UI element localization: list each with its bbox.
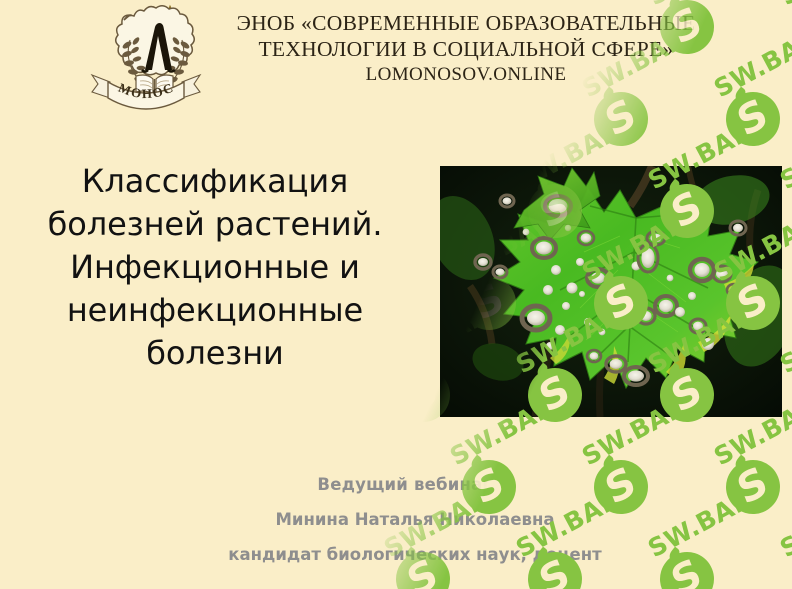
leaf-spot [562,302,570,310]
slide-header: ЛОМОНОСОВ ЭНОБ «СОВРЕМЕННЫЕ ОБРАЗОВАТЕЛЬ… [0,0,792,118]
title-line-2: болезней растений. [10,203,420,246]
presenter-info: Ведущий вебинара: Минина Наталья Николае… [150,468,680,573]
watermark-text: SW.BAND [0,566,51,589]
header-title-block: ЭНОБ «СОВРЕМЕННЫЕ ОБРАЗОВАТЕЛЬНЫЕ ТЕХНОЛ… [196,10,736,87]
header-line-2: ТЕХНОЛОГИИ В СОЦИАЛЬНОЙ СФЕРЕ» [196,36,736,62]
title-line-1: Классификация [10,160,420,203]
leaf-spot [702,338,714,350]
watermark-text: SW.BAND [775,474,792,563]
leaf-spot [579,291,585,297]
title-line-3: Инфекционные и [10,246,420,289]
title-line-4: неинфекционные [10,289,420,332]
leaf-spot [551,265,561,275]
slide-title: Классификация болезней растений. Инфекци… [10,160,420,374]
watermark-text: SW.BAND [0,474,117,563]
presenter-name: Минина Наталья Николаевна [150,503,680,538]
watermark-text: SW.BAND [49,382,183,471]
leaf-spot [567,283,578,294]
watermark-logo-icon [782,542,792,589]
leaf-spot [545,196,571,216]
leaf-spot [584,318,592,326]
watermark-logo-icon [782,358,792,431]
leaf-spot [565,225,571,231]
leaf-spot [543,285,553,295]
diseased-leaf-photo [440,166,782,417]
leaf-spot [523,229,530,236]
watermark-logo-icon [716,450,789,523]
leaf-spot [576,258,584,266]
watermark-text: SW.BAND [709,566,792,589]
presentation-slide: ЛОМОНОСОВ ЭНОБ «СОВРЕМЕННЫЕ ОБРАЗОВАТЕЛЬ… [0,0,792,589]
leaf-spot [688,292,696,300]
leaf-spot [555,325,565,335]
title-line-5: болезни [10,332,420,375]
header-line-3: LOMONOSOV.ONLINE [196,63,736,86]
presenter-role: Ведущий вебинара: [150,468,680,503]
watermark-logo-icon [0,542,64,589]
watermark-text: SW.BAND [0,382,51,471]
leaf-spot [667,275,674,282]
leaf-spot [675,307,685,317]
presenter-credentials: кандидат биологических наук, доцент [150,538,680,573]
header-line-1: ЭНОБ «СОВРЕМЕННЫЕ ОБРАЗОВАТЕЛЬНЫЕ [196,10,736,36]
watermark-logo-icon [56,450,129,523]
watermark-text: SW.BAND [181,382,315,471]
leaf-spot [546,342,554,350]
leaf-spot [599,329,606,336]
lomonosov-logo: ЛОМОНОСОВ [82,0,210,114]
watermark-text: SW.BAND [313,382,447,471]
watermark-logo-icon [782,174,792,247]
